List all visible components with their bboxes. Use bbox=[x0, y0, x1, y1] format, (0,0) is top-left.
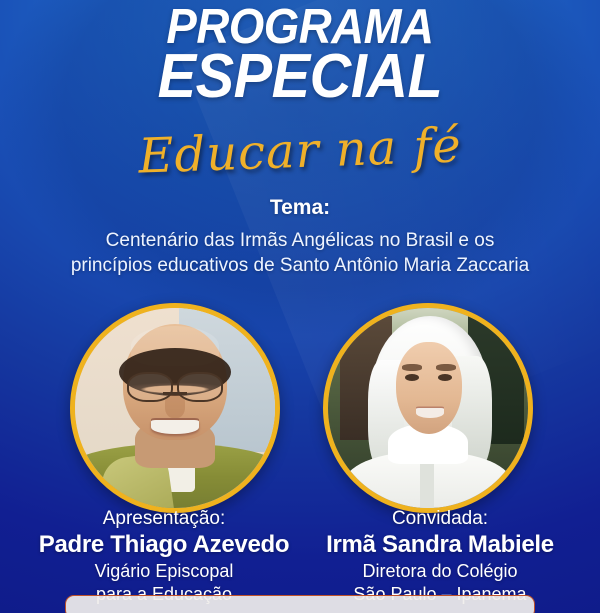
theme-text-line-1: Centenário das Irmãs Angélicas no Brasil… bbox=[20, 228, 580, 253]
poster-headline: PROGRAMA ESPECIAL bbox=[0, 4, 600, 107]
nun-portrait-photo bbox=[328, 308, 528, 508]
speaker-name-nun: Irmã Sandra Mabiele bbox=[290, 531, 590, 560]
speaker-caption-priest: Apresentação: Padre Thiago Azevedo Vigár… bbox=[14, 508, 314, 605]
theme-text-line-2: princípios educativos de Santo Antônio M… bbox=[20, 253, 580, 278]
theme-label: Tema: bbox=[0, 196, 600, 220]
script-tagline: Educar na fé bbox=[0, 113, 600, 190]
theme-text: Centenário das Irmãs Angélicas no Brasil… bbox=[20, 228, 580, 278]
title-line-2: ESPECIAL bbox=[21, 47, 579, 107]
speaker-subtitle-nun-line-1: Diretora do Colégio bbox=[290, 561, 590, 583]
speaker-caption-nun: Convidada: Irmã Sandra Mabiele Diretora … bbox=[290, 508, 590, 605]
speaker-photo-priest bbox=[70, 303, 280, 513]
speaker-role-priest: Apresentação: bbox=[14, 508, 314, 530]
event-poster: PROGRAMA ESPECIAL Educar na fé Tema: Cen… bbox=[0, 0, 600, 613]
speaker-name-priest: Padre Thiago Azevedo bbox=[14, 531, 314, 560]
priest-portrait-photo bbox=[75, 308, 275, 508]
speaker-subtitle-priest-line-1: Vigário Episcopal bbox=[14, 561, 314, 583]
speaker-role-nun: Convidada: bbox=[290, 508, 590, 530]
bottom-banner-box bbox=[65, 595, 535, 613]
speaker-photos bbox=[0, 303, 600, 508]
speaker-photo-nun bbox=[323, 303, 533, 513]
